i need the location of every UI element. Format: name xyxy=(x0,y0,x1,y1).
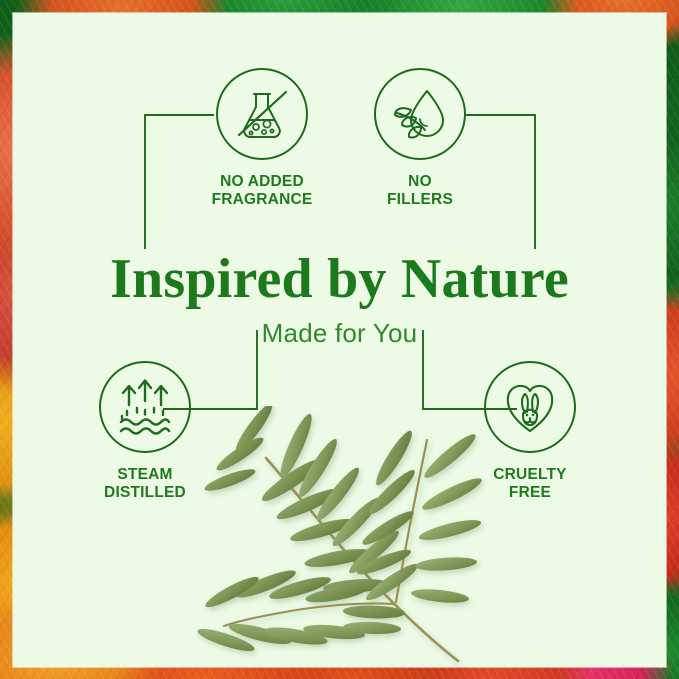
badge-ring xyxy=(484,361,576,453)
badge-ring xyxy=(374,68,466,160)
badge-label: STEAM DISTILLED xyxy=(70,466,220,502)
badge-ring xyxy=(216,68,308,160)
page-title: Inspired by Nature xyxy=(0,251,679,307)
badge-ring xyxy=(99,361,191,453)
badge-label: CRUELTY FREE xyxy=(455,466,605,502)
badge-cruelty-free[interactable]: CRUELTY FREE xyxy=(455,361,605,502)
droplet-leaf-icon xyxy=(389,83,451,145)
badge-no-fillers[interactable]: NO FILLERS xyxy=(345,68,495,209)
badge-label: NO FILLERS xyxy=(345,173,495,209)
badge-no-added-fragrance[interactable]: NO ADDED FRAGRANCE xyxy=(187,68,337,209)
bunny-heart-icon xyxy=(498,375,562,439)
badge-steam-distilled[interactable]: STEAM DISTILLED xyxy=(70,361,220,502)
page-subtitle: Made for You xyxy=(0,318,679,349)
infographic-canvas: NO ADDED FRAGRANCE NO FILLERS xyxy=(0,0,679,679)
flask-no-fragrance-icon xyxy=(231,83,293,145)
badge-label: NO ADDED FRAGRANCE xyxy=(187,173,337,209)
steam-arrows-water-icon xyxy=(113,375,177,439)
